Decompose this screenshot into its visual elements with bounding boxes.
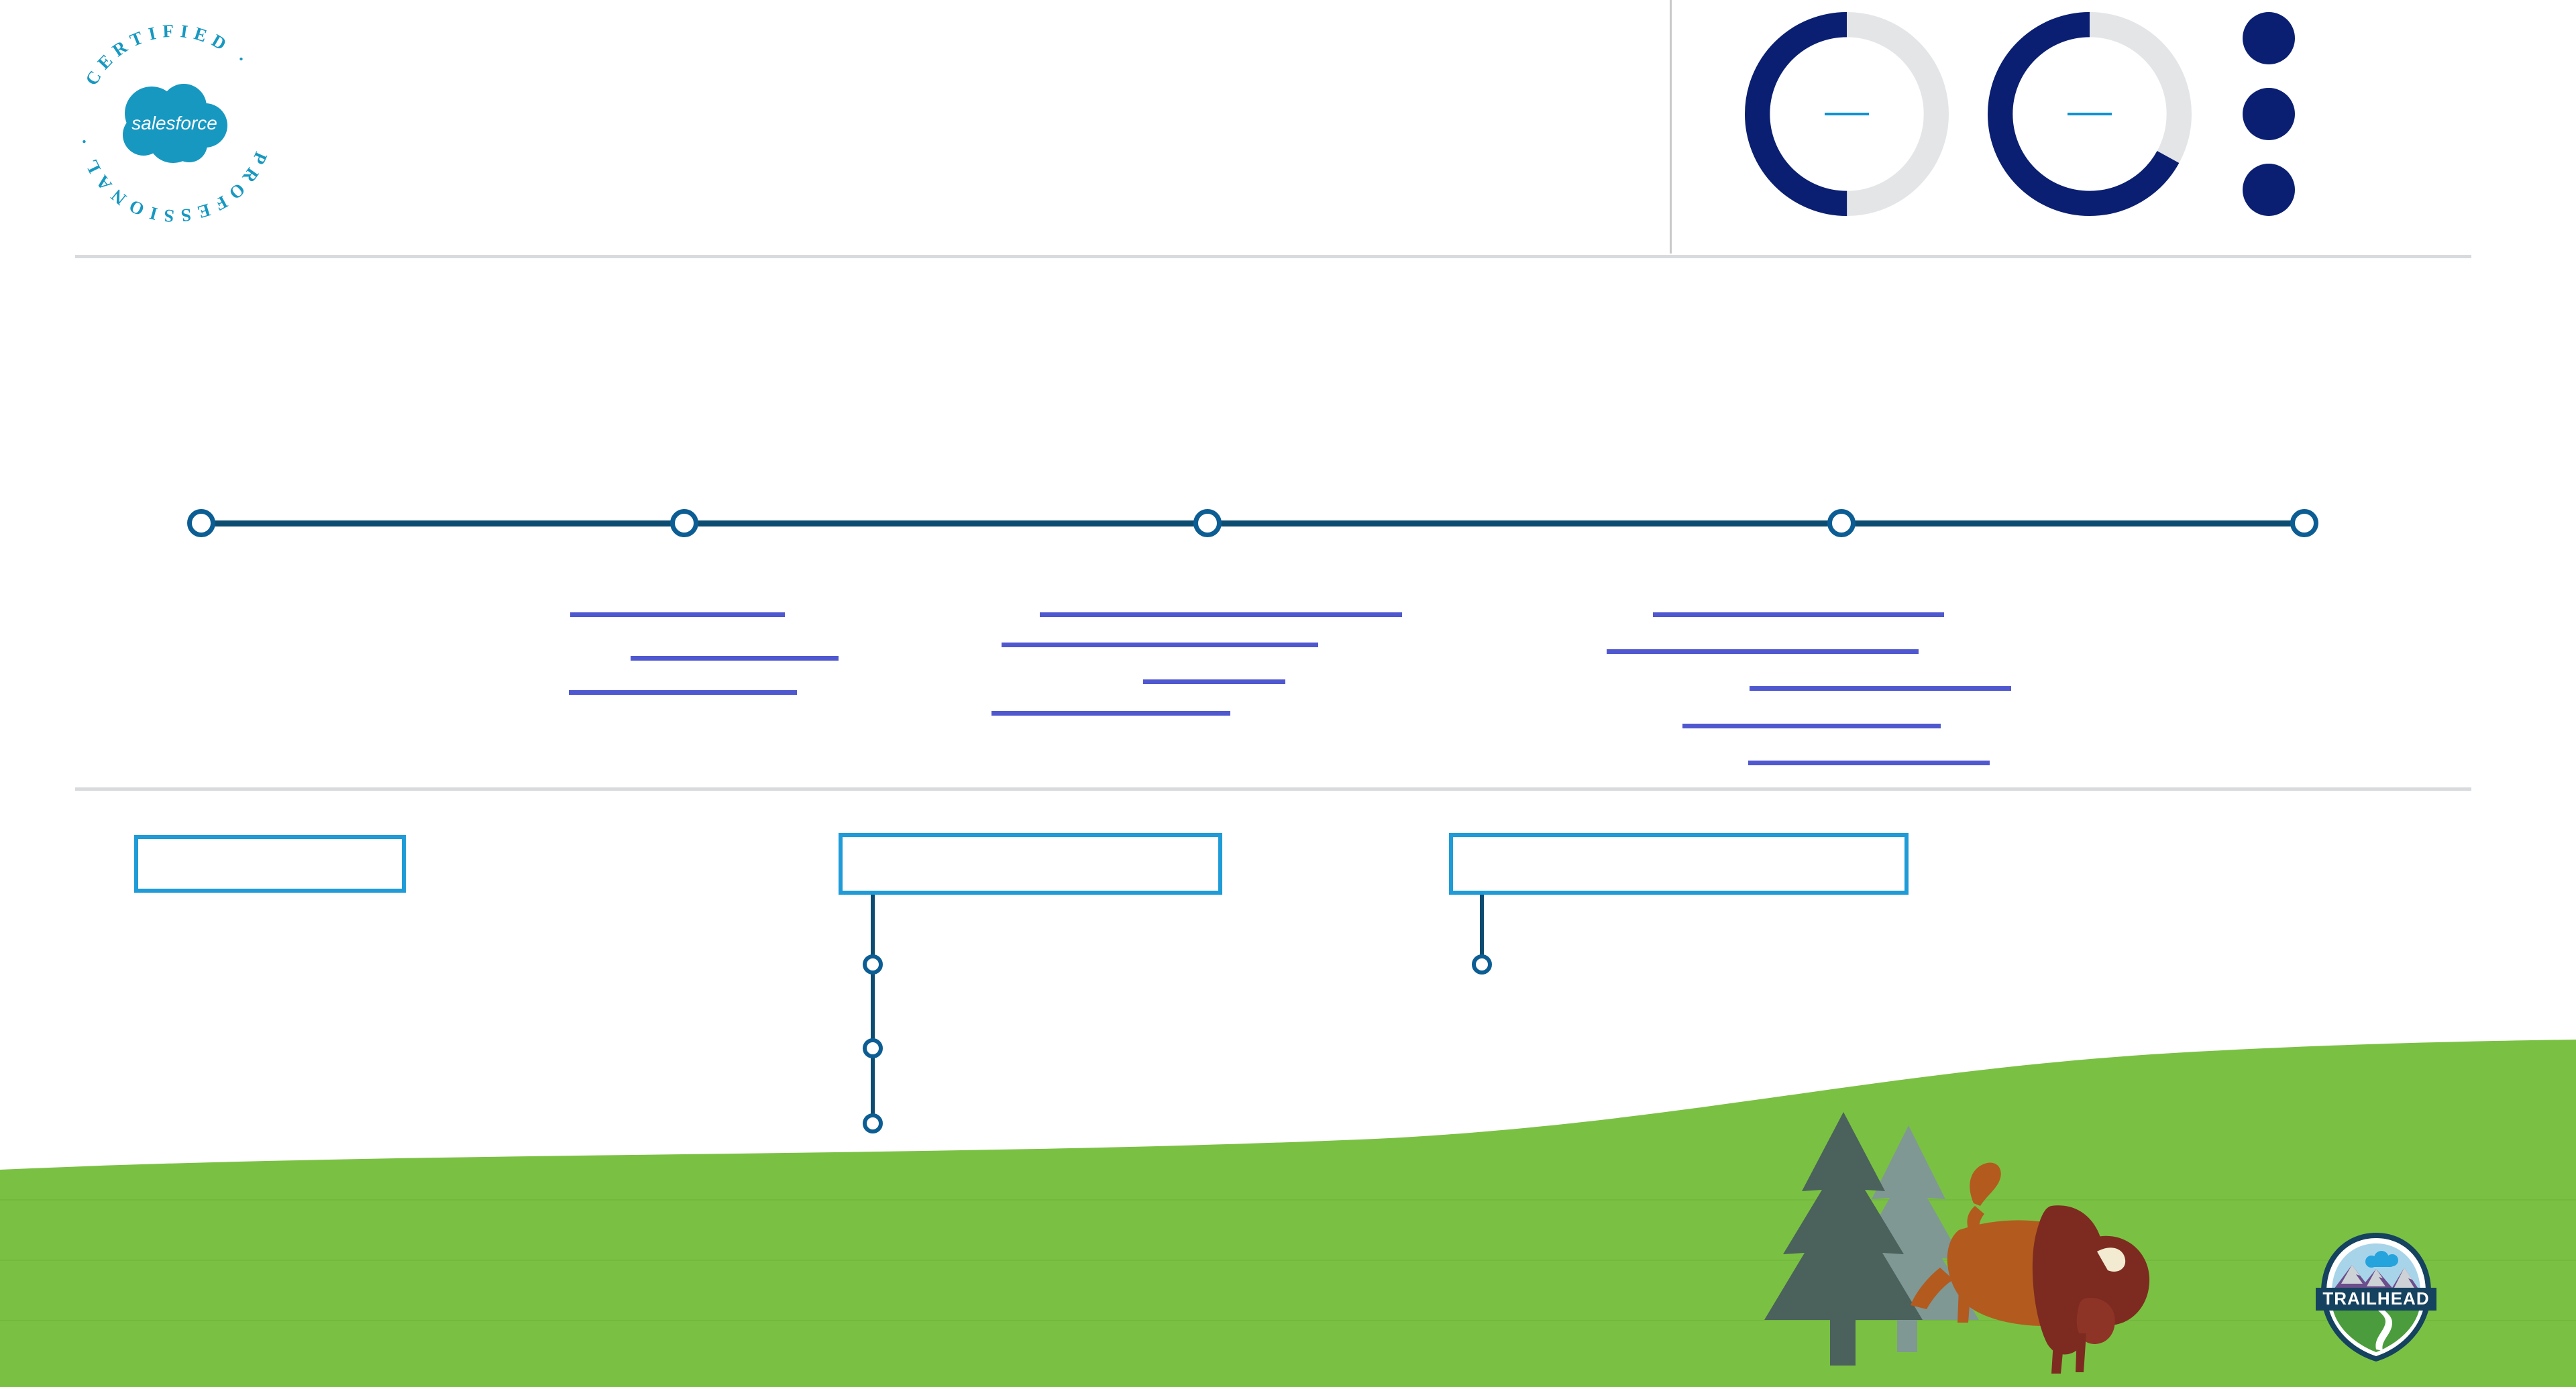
horizontal-milestone-timeline [0, 500, 2576, 547]
divider-middle [75, 787, 2471, 791]
placeholder-text-line [569, 690, 797, 695]
connector-node[interactable] [863, 954, 883, 975]
kebab-dot-2 [2243, 88, 2295, 140]
pine-tree-dark [1764, 1112, 1923, 1366]
trailhead-wordmark: TRAILHEAD [2322, 1288, 2429, 1309]
donut-left-center-placeholder [1825, 113, 1869, 115]
timeline-node[interactable] [670, 509, 698, 537]
kebab-menu[interactable] [2242, 12, 2296, 216]
trailhead-illustration [0, 1038, 2576, 1387]
placeholder-text-line [1653, 612, 1944, 617]
connector-line [1480, 895, 1484, 956]
content-box-right[interactable] [1449, 833, 1909, 895]
connector-node[interactable] [1472, 954, 1492, 975]
content-box-center[interactable] [839, 833, 1222, 895]
svg-text:CERTIFIED ·: CERTIFIED · [81, 21, 255, 89]
placeholder-text-line [631, 656, 839, 661]
timeline-node[interactable] [187, 509, 215, 537]
placeholder-text-line [1002, 643, 1318, 647]
connector-line [871, 895, 875, 1123]
placeholder-text-line [1040, 612, 1402, 617]
connector-node[interactable] [863, 1038, 883, 1058]
progress-donut-left[interactable] [1739, 7, 1954, 221]
placeholder-text-line [1143, 679, 1285, 684]
svg-text:salesforce: salesforce [131, 113, 217, 133]
kebab-dot-3 [2243, 164, 2295, 216]
salesforce-certified-professional-badge: CERTIFIED · PROFESSIONAL · salesforce [47, 0, 302, 252]
progress-donut-right[interactable] [1982, 7, 2197, 221]
divider-top [75, 255, 2471, 258]
placeholder-text-line [991, 711, 1230, 716]
trailhead-bison-mascot [1911, 1162, 2149, 1374]
placeholder-text-line [1750, 686, 2011, 691]
grass-hill [0, 1040, 2576, 1387]
placeholder-text-line [1682, 724, 1941, 728]
connector-node[interactable] [863, 1113, 883, 1133]
timeline-node[interactable] [1827, 509, 1856, 537]
donut-right-center-placeholder [2068, 113, 2112, 115]
header-vertical-divider [1670, 0, 1672, 254]
timeline-node[interactable] [1193, 509, 1222, 537]
timeline-bar [201, 520, 2304, 526]
timeline-node[interactable] [2290, 509, 2318, 537]
placeholder-text-line [1607, 649, 1919, 654]
placeholder-text-line [1748, 761, 1990, 765]
kebab-dot-1 [2243, 12, 2295, 64]
trailhead-logo: TRAILHEAD [2306, 1230, 2446, 1364]
pine-tree-light [1838, 1125, 1979, 1352]
slide-canvas: CERTIFIED · PROFESSIONAL · salesforce [0, 0, 2576, 1387]
content-box-left[interactable] [134, 835, 406, 893]
placeholder-text-line [570, 612, 785, 617]
